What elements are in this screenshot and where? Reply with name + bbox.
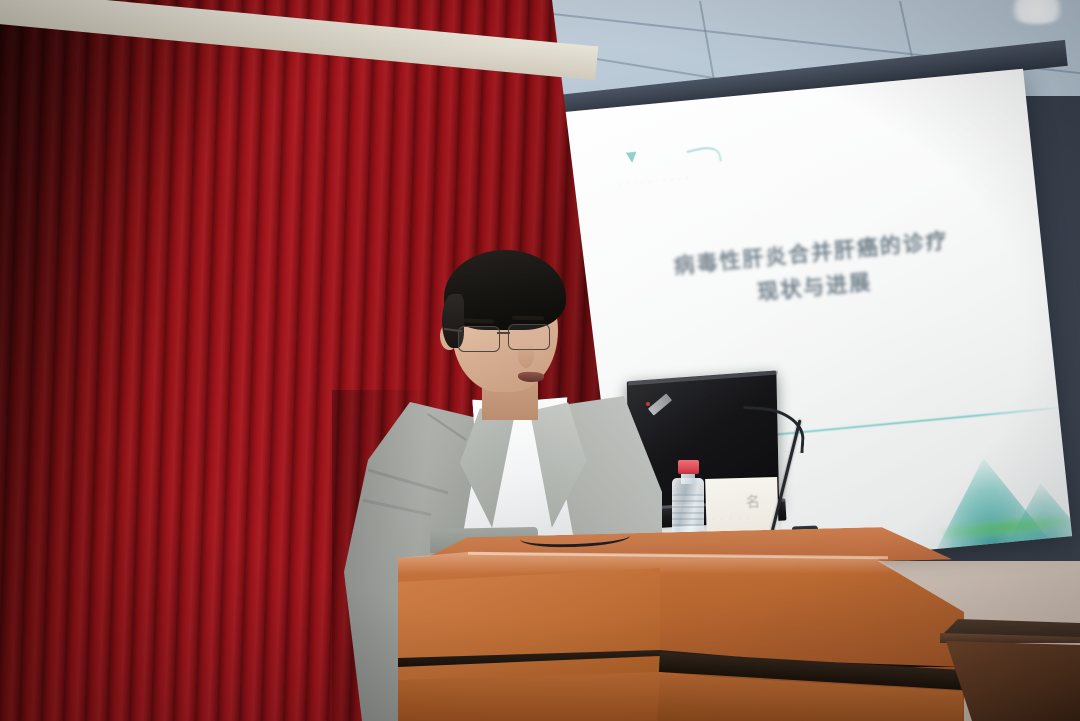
ceiling-light — [1006, 0, 1068, 24]
placard-glyph: 名 — [746, 492, 759, 512]
placard-text: · · · · · — [712, 515, 772, 523]
table-body — [946, 641, 1080, 721]
teal-triangle-logo-icon — [626, 151, 638, 163]
swoosh-icon — [687, 144, 722, 169]
eyebrow-right — [512, 316, 544, 321]
glasses-lens-left — [458, 326, 500, 352]
glasses-bridge — [497, 332, 510, 334]
foreground-table — [940, 619, 1080, 721]
bottle-cap — [678, 460, 699, 474]
presentation-photo: ···· ·· ····· · · · · · · · · · · 病毒性肝炎合… — [0, 0, 1080, 721]
nose — [518, 342, 534, 368]
slide-title: 病毒性肝炎合并肝癌的诊疗 现状与进展 — [620, 220, 1005, 323]
bottle-ribs — [672, 494, 704, 528]
lectern — [398, 524, 964, 721]
logo-subtext: · · · · · · · · · · — [619, 162, 829, 189]
